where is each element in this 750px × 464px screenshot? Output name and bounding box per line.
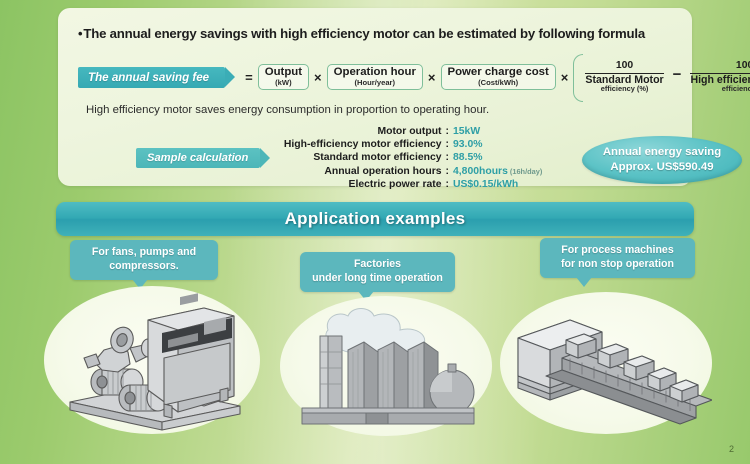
multiply-operator-2: × — [428, 70, 436, 85]
spec-value: US$0.15/kWh — [453, 179, 573, 190]
minus-operator: − — [673, 66, 682, 89]
callout-3-line-2: for non stop operation — [561, 258, 674, 272]
spec-label: Annual operation hours — [283, 166, 442, 177]
callout-1-line-2: compressors. — [92, 260, 196, 274]
fraction-standard-motor: 100 Standard Motor efficiency (%) — [582, 61, 666, 93]
sample-calculation-list: Motor output : 15kW High-efficiency moto… — [283, 126, 573, 192]
callout-process-machines: For process machines for non stop operat… — [540, 238, 695, 278]
spec-colon: : — [442, 139, 453, 150]
efficiency-bracket-group: 100 Standard Motor efficiency (%) − 100 … — [573, 54, 750, 100]
list-item: Annual operation hours : 4,800hours(16h/… — [283, 166, 573, 179]
callout-fans-pumps-compressors: For fans, pumps and compressors. — [70, 240, 218, 280]
callout-1-line-1: For fans, pumps and — [92, 246, 196, 260]
page-title: •The annual energy savings with high eff… — [78, 26, 645, 41]
spec-colon: : — [442, 166, 453, 177]
callout-2-line-1: Factories — [312, 258, 443, 272]
slide-canvas: •The annual energy savings with high eff… — [0, 0, 750, 464]
formula-row: The annual saving fee = Output (kW) × Op… — [78, 56, 750, 98]
term-power-charge-cost: Power charge cost (Cost/kWh) — [441, 64, 556, 90]
factory-illustration — [280, 296, 492, 436]
spec-value: 93.0% — [453, 139, 573, 150]
term-operation-hour: Operation hour (Hour/year) — [327, 64, 423, 90]
fraction-standard-denominator-unit: efficiency (%) — [585, 85, 663, 92]
spec-value: 15kW — [453, 126, 573, 137]
callout-tail-icon — [576, 277, 592, 287]
callout-factories: Factories under long time operation — [300, 252, 455, 292]
equals-operator: = — [245, 70, 253, 85]
spec-label: Standard motor efficiency — [283, 152, 442, 163]
callout-2-line-2: under long time operation — [312, 272, 443, 286]
pump-compressor-illustration — [44, 286, 260, 434]
result-line-1: Annual energy saving — [603, 145, 721, 160]
result-line-2: Approx. US$590.49 — [610, 160, 713, 175]
spec-colon: : — [442, 126, 453, 137]
term-power-charge-cost-unit: (Cost/kWh) — [448, 79, 549, 87]
application-examples-banner: Application examples — [56, 202, 694, 236]
spec-value-note: (16h/day) — [510, 167, 542, 176]
spec-label: Electric power rate — [283, 179, 442, 190]
list-item: Standard motor efficiency : 88.5% — [283, 152, 573, 165]
page-number: 2 — [729, 444, 734, 454]
list-item: Electric power rate : US$0.15/kWh — [283, 179, 573, 192]
spec-value: 4,800hours(16h/day) — [453, 166, 573, 177]
fraction-high-denominator-unit: efficiency(%) — [690, 85, 750, 92]
multiply-operator-1: × — [314, 70, 322, 85]
headline-text: The annual energy savings with high effi… — [83, 26, 645, 41]
multiply-operator-3: × — [561, 70, 569, 85]
sample-calculation-label: Sample calculation — [147, 152, 248, 164]
callout-3-line-1: For process machines — [561, 244, 674, 258]
term-operation-hour-unit: (Hour/year) — [334, 79, 416, 87]
application-examples-title: Application examples — [285, 209, 466, 229]
fraction-high-efficiency-motor: 100 High efficiency motor efficiency(%) — [687, 61, 750, 93]
fraction-standard-numerator: 100 — [585, 61, 663, 72]
spec-value: 88.5% — [453, 152, 573, 163]
term-output-unit: (kW) — [265, 79, 302, 87]
fraction-high-numerator: 100 — [690, 61, 750, 72]
list-item: High-efficiency motor efficiency : 93.0% — [283, 139, 573, 152]
annual-saving-fee-label: The annual saving fee — [88, 71, 209, 84]
spec-colon: : — [442, 179, 453, 190]
spec-colon: : — [442, 152, 453, 163]
annual-saving-fee-tag: The annual saving fee — [78, 67, 225, 88]
formula-panel: •The annual energy savings with high eff… — [58, 8, 692, 186]
bullet-icon: • — [78, 26, 82, 41]
sample-calculation-tag: Sample calculation — [136, 148, 260, 168]
spec-label: Motor output — [283, 126, 442, 137]
conveyor-illustration — [500, 292, 712, 434]
spec-label: High-efficiency motor efficiency — [283, 139, 442, 150]
annual-energy-saving-result: Annual energy saving Approx. US$590.49 — [582, 136, 742, 184]
list-item: Motor output : 15kW — [283, 126, 573, 139]
term-output: Output (kW) — [258, 64, 309, 90]
sub-note-text: High efficiency motor saves energy consu… — [86, 104, 489, 116]
